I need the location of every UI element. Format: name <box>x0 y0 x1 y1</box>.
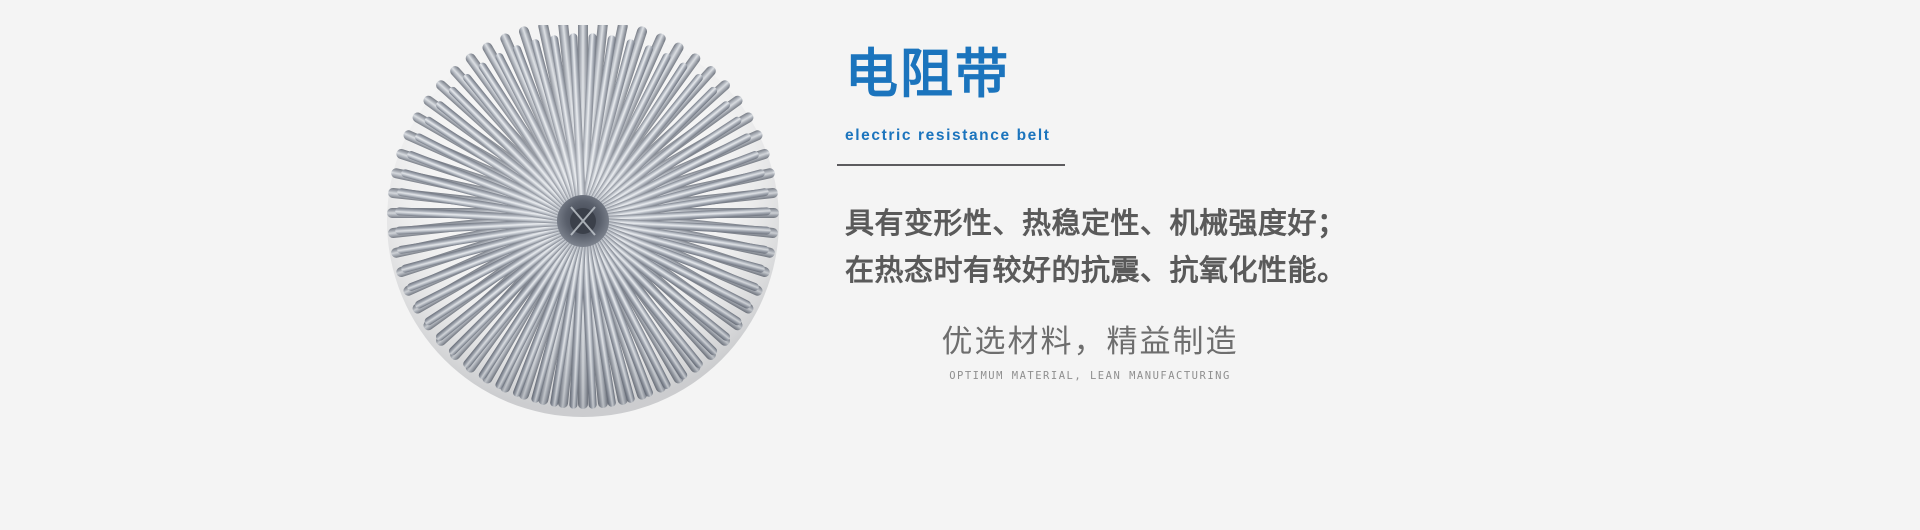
product-description: 具有变形性、热稳定性、机械强度好； 在热态时有较好的抗震、抗氧化性能。 <box>845 200 1605 294</box>
title-divider <box>837 164 1065 166</box>
page-title: 电阻带 <box>845 44 1605 106</box>
description-line: 具有变形性、热稳定性、机械强度好； <box>845 200 1605 247</box>
tagline-chinese: 优选材料，精益制造 <box>780 320 1400 364</box>
product-image <box>335 25 835 455</box>
heading-and-copy-column: 电阻带 electric resistance belt 具有变形性、热稳定性、… <box>845 44 1605 294</box>
page-subtitle-english: electric resistance belt <box>845 127 1605 145</box>
tagline-block: 优选材料，精益制造 OPTIMUM MATERIAL, LEAN MANUFAC… <box>780 320 1400 384</box>
tagline-english: OPTIMUM MATERIAL, LEAN MANUFACTURING <box>780 368 1400 384</box>
product-banner: 电阻带 electric resistance belt 具有变形性、热稳定性、… <box>0 0 1920 530</box>
description-line: 在热态时有较好的抗震、抗氧化性能。 <box>845 247 1605 294</box>
